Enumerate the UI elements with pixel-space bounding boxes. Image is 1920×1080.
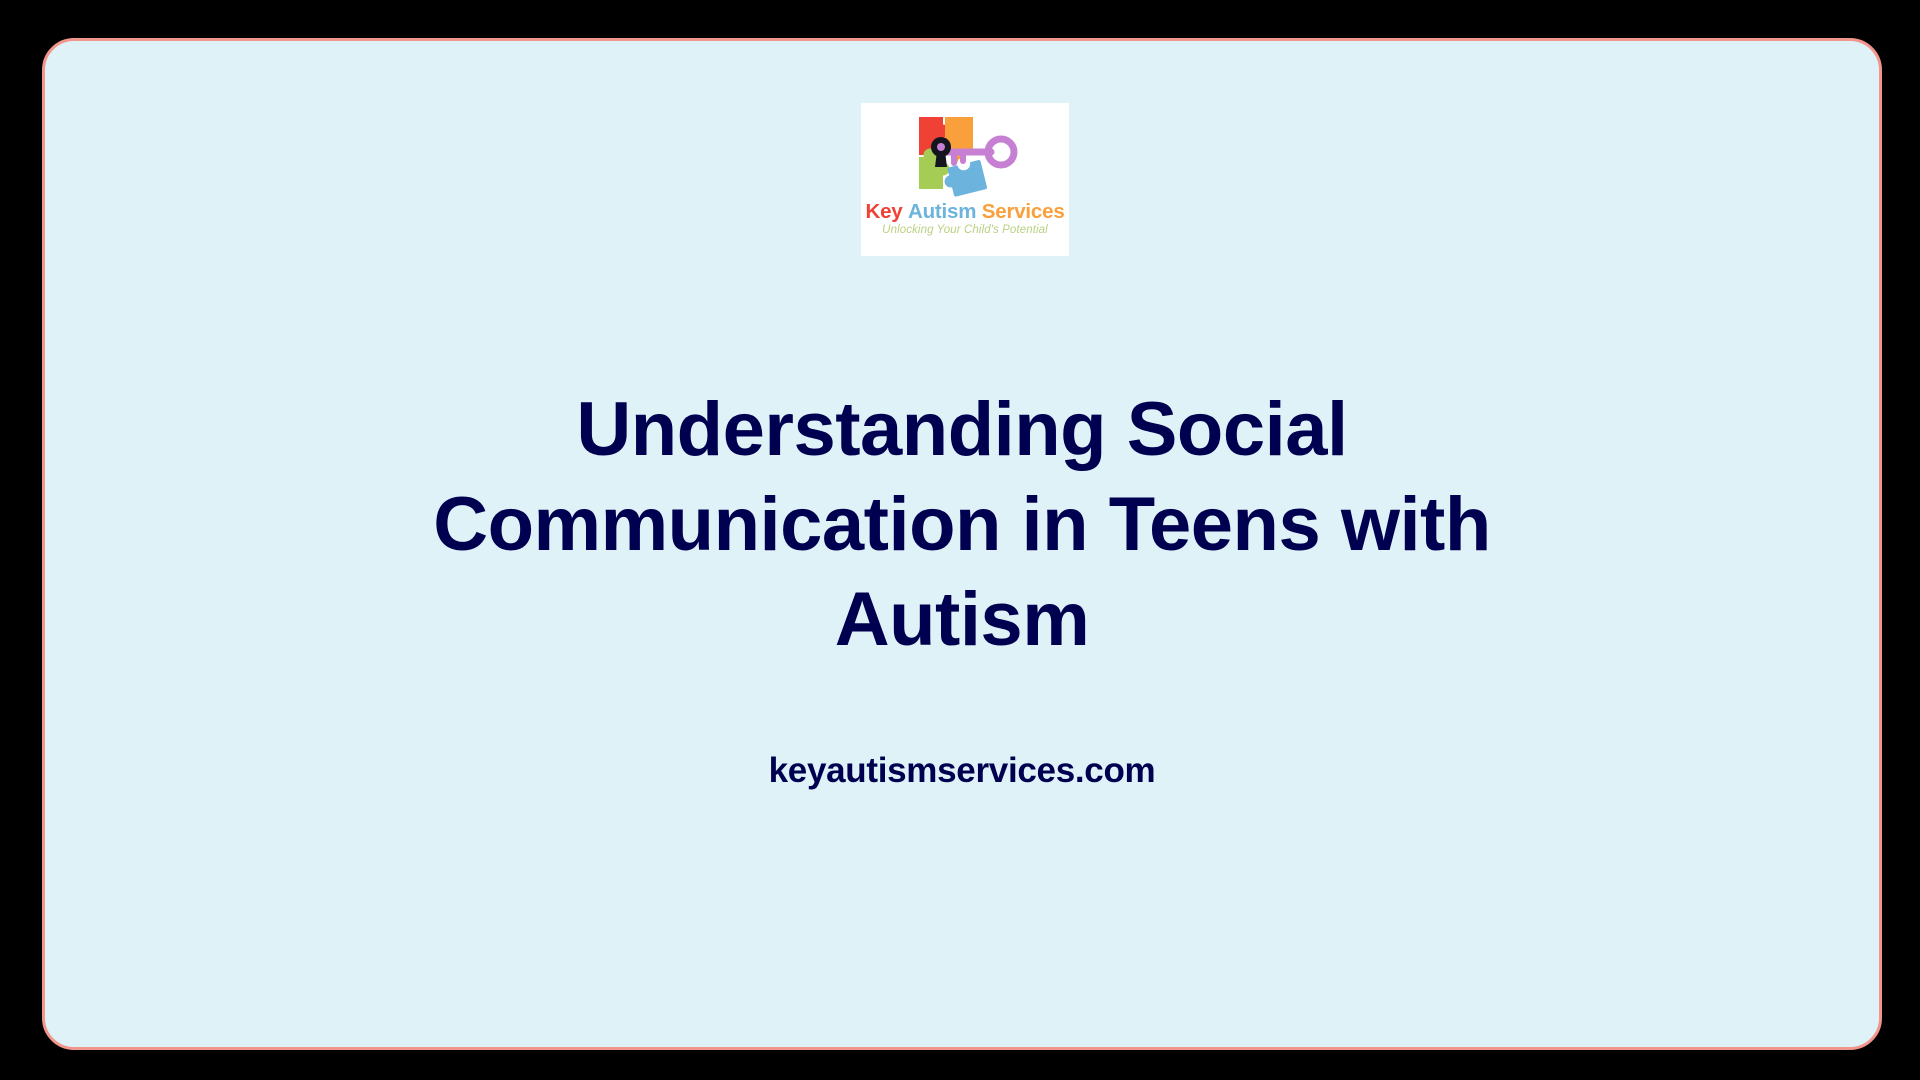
title-line-3: Autism bbox=[165, 572, 1759, 667]
logo-word-key: Key bbox=[865, 200, 902, 223]
brand-logo: Key Autism Services Unlocking Your Child… bbox=[861, 103, 1069, 256]
puzzle-key-icon bbox=[899, 107, 1031, 199]
page-title: Understanding Social Communication in Te… bbox=[45, 382, 1879, 667]
site-url: keyautismservices.com bbox=[45, 751, 1879, 791]
logo-wordmark: Key Autism Services bbox=[865, 201, 1064, 223]
slide-card: Key Autism Services Unlocking Your Child… bbox=[42, 38, 1882, 1050]
logo-tagline: Unlocking Your Child's Potential bbox=[882, 224, 1048, 236]
title-line-2: Communication in Teens with bbox=[165, 477, 1759, 572]
logo-word-services: Services bbox=[982, 200, 1065, 223]
logo-word-autism: Autism bbox=[908, 200, 976, 223]
title-line-1: Understanding Social bbox=[165, 382, 1759, 477]
